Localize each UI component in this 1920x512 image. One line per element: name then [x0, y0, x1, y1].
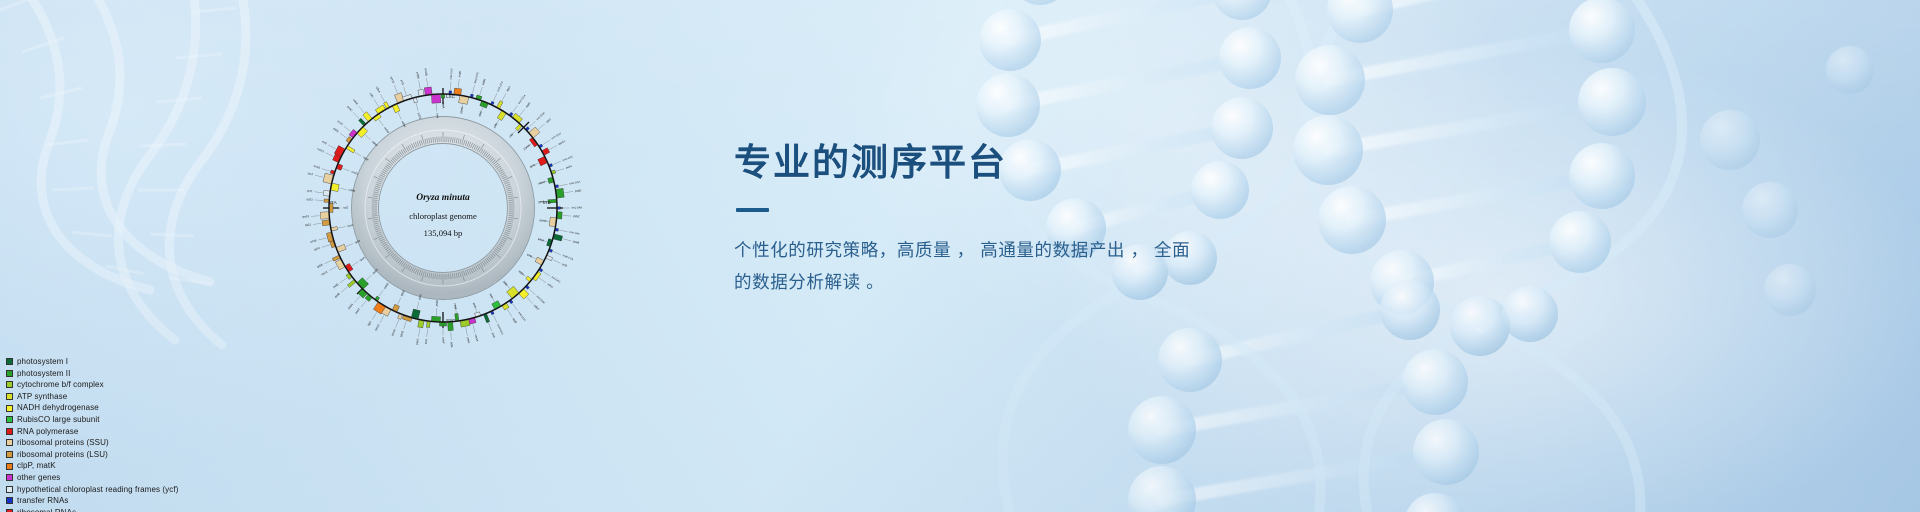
legend-item: photosystem II [6, 368, 178, 380]
svg-text:ycf3: ycf3 [562, 262, 569, 268]
svg-text:ndhC: ndhC [533, 303, 540, 311]
legend-item: ATP synthase [6, 391, 178, 403]
legend-item: transfer RNAs [6, 495, 178, 507]
banner-subcopy: 个性化的研究策略，高质量 ， 高通量的数据产出 ， 全面 的数据分析解读 。 [734, 234, 1269, 298]
svg-text:rpl36: rpl36 [316, 262, 324, 268]
svg-text:rps15: rps15 [389, 76, 395, 84]
svg-text:trnH-GUG: trnH-GUG [450, 68, 454, 79]
legend-swatch [6, 497, 13, 504]
svg-text:rps19: rps19 [302, 214, 310, 218]
genome-gene-labels: psbAtrnH-GUGmatKrps16trnQ-UUGpsbKpsbItrn… [302, 68, 582, 349]
legend-item-label: transfer RNAs [17, 495, 69, 507]
svg-text:ndhJ: ndhJ [547, 282, 555, 289]
legend-item-label: ribosomal proteins (SSU) [17, 437, 109, 449]
svg-text:rpl16: rpl16 [310, 238, 317, 244]
svg-text:psbM: psbM [537, 180, 545, 186]
svg-text:psbF: psbF [441, 337, 445, 344]
svg-text:cemA: cemA [474, 334, 480, 342]
legend-item-label: RubisCO large subunit [17, 414, 100, 426]
svg-text:ccsA: ccsA [337, 119, 344, 126]
svg-text:atpE: atpE [502, 280, 509, 287]
banner-copy-block: 专业的测序平台 个性化的研究策略，高质量 ， 高通量的数据产出 ， 全面 的数据… [734, 140, 1354, 298]
legend-item-label: ATP synthase [17, 391, 67, 403]
legend-swatch [6, 451, 13, 458]
svg-text:rpoB: rpoB [529, 163, 536, 169]
svg-text:IRB: IRB [543, 200, 551, 205]
svg-text:trnY-GUA: trnY-GUA [536, 111, 546, 121]
svg-text:petA: petA [466, 337, 471, 344]
legend-swatch [6, 416, 13, 423]
svg-text:IRA: IRA [329, 200, 338, 205]
svg-text:ndhE: ndhE [352, 98, 359, 106]
chloroplast-genome-map: psbAtrnH-GUGmatKrps16trnQ-UUGpsbKpsbItrn… [243, 8, 643, 408]
svg-text:SSC: SSC [446, 318, 456, 323]
svg-text:rpl23: rpl23 [306, 197, 313, 201]
legend-item-label: cytochrome b/f complex [17, 379, 104, 391]
legend-item-label: clpP, matK [17, 460, 56, 472]
svg-text:trnC-GCA: trnC-GCA [518, 94, 527, 105]
svg-text:ycf68: ycf68 [415, 72, 420, 80]
svg-text:ndhB: ndhB [348, 188, 355, 193]
svg-text:petG: petG [415, 338, 420, 345]
svg-text:psbE: psbE [435, 300, 439, 307]
legend-swatch [6, 474, 13, 481]
svg-text:ycf4: ycf4 [471, 302, 477, 309]
svg-text:ycf2: ycf2 [307, 189, 313, 194]
genome-species-name: Oryza minuta [416, 193, 470, 203]
svg-text:psbD: psbD [575, 188, 582, 193]
svg-text:psbL: psbL [450, 342, 454, 349]
svg-text:psaC: psaC [346, 105, 353, 112]
svg-text:rps14: rps14 [539, 218, 547, 223]
legend-swatch [6, 486, 13, 493]
svg-text:psaA: psaA [537, 237, 544, 243]
legend-item-label: hypothetical chloroplast reading frames … [17, 484, 178, 496]
svg-text:ndhG: ndhG [383, 126, 390, 134]
svg-text:trnQ-UUG: trnQ-UUG [474, 72, 480, 84]
legend-item: RNA polymerase [6, 426, 178, 438]
svg-text:orf100: orf100 [424, 68, 429, 77]
legend-item-label: ribosomal proteins (LSU) [17, 449, 108, 461]
legend-item-label: NADH dehydrogenase [17, 402, 99, 414]
legend-swatch [6, 463, 13, 470]
svg-text:psbT: psbT [354, 307, 361, 315]
svg-text:rps4: rps4 [526, 253, 533, 259]
genome-center-caption: Oryza minuta chloroplast genome 135,094 … [409, 193, 477, 238]
svg-text:petL: petL [424, 338, 429, 344]
svg-text:petD: petD [332, 282, 339, 289]
svg-text:trnT-GGU: trnT-GGU [551, 132, 562, 140]
svg-text:rrn5: rrn5 [321, 140, 328, 146]
svg-text:rrn16: rrn16 [313, 164, 321, 170]
svg-text:psbB: psbB [383, 282, 390, 290]
legend-item-label: other genes [17, 472, 60, 484]
svg-text:trnA-UGC: trnA-UGC [517, 311, 526, 322]
genome-center-line2: chloroplast genome [409, 211, 477, 221]
svg-text:rps18: rps18 [390, 328, 396, 336]
svg-text:rpoC1: rpoC1 [557, 139, 566, 146]
svg-text:psbJ: psbJ [453, 302, 458, 309]
svg-text:psbA: psbA [441, 102, 445, 109]
svg-text:rpl14: rpl14 [313, 246, 321, 252]
svg-text:atpB: atpB [512, 317, 519, 324]
legend-swatch [6, 405, 13, 412]
legend-item-label: ribosomal RNAs [17, 507, 76, 512]
svg-text:trnG-UCC: trnG-UCC [497, 81, 505, 93]
svg-text:rbcL: rbcL [488, 292, 494, 299]
svg-text:atpI: atpI [508, 133, 514, 139]
svg-text:rps11: rps11 [320, 269, 328, 276]
svg-text:ycf1: ycf1 [400, 79, 406, 86]
banner-subcopy-line-2: 的数据分析解读 。 [734, 272, 884, 292]
hero-banner: psbAtrnH-GUGmatKrps16trnQ-UUGpsbKpsbItrn… [0, 0, 1920, 512]
legend-item-label: photosystem II [17, 368, 70, 380]
svg-text:atpF: atpF [492, 122, 499, 129]
svg-text:psaI: psaI [491, 332, 497, 339]
svg-text:rpl22: rpl22 [305, 222, 312, 227]
svg-text:matK: matK [457, 70, 462, 77]
legend-swatch [6, 428, 13, 435]
gene-category-legend: photosystem I photosystem II cytochrome … [6, 356, 178, 512]
legend-item: RubisCO large subunit [6, 414, 178, 426]
genome-genome-size: 135,094 bp [424, 228, 463, 238]
svg-text:ndhI: ndhI [369, 92, 375, 99]
legend-item: other genes [6, 472, 178, 484]
banner-headline: 专业的测序平台 [734, 140, 1354, 186]
legend-item: NADH dehydrogenase [6, 402, 178, 414]
svg-text:petN: petN [565, 164, 572, 170]
svg-text:trnN-GUU: trnN-GUU [496, 324, 504, 336]
legend-item: ribosomal RNAs [6, 507, 178, 512]
svg-text:rps2: rps2 [545, 117, 552, 124]
svg-text:rps12: rps12 [374, 323, 381, 331]
legend-swatch [6, 358, 13, 365]
svg-text:ndhK: ndhK [517, 269, 525, 276]
svg-text:rrn4.5: rrn4.5 [316, 147, 325, 154]
svg-text:psaB: psaB [573, 239, 580, 244]
legend-item: clpP, matK [6, 460, 178, 472]
svg-text:rpl32: rpl32 [332, 126, 340, 133]
svg-text:psbZ: psbZ [573, 214, 580, 218]
svg-text:trnW-CCA: trnW-CCA [562, 254, 574, 261]
svg-text:trnV-GAC: trnV-GAC [536, 295, 546, 305]
legend-item: photosystem I [6, 356, 178, 368]
legend-swatch [6, 381, 13, 388]
svg-text:trnI-CAU: trnI-CAU [551, 276, 561, 284]
svg-text:rps16: rps16 [459, 106, 464, 114]
legend-item: hypothetical chloroplast reading frames … [6, 484, 178, 496]
svg-text:psbI: psbI [478, 111, 484, 118]
svg-text:psbN: psbN [347, 303, 354, 310]
svg-text:rps7: rps7 [307, 171, 314, 176]
svg-text:clpP: clpP [366, 320, 372, 327]
svg-text:psbK: psbK [481, 78, 487, 85]
headline-underline-rule [736, 208, 769, 212]
banner-subcopy-line-1: 个性化的研究策略，高质量 ， 高通量的数据产出 ， 全面 [734, 240, 1190, 260]
svg-text:infA: infA [435, 113, 439, 118]
legend-item: ribosomal proteins (LSU) [6, 449, 178, 461]
svg-text:trnL-UAA: trnL-UAA [572, 207, 583, 210]
svg-text:petB: petB [334, 292, 341, 299]
legend-item: cytochrome b/f complex [6, 379, 178, 391]
svg-text:rpoC2: rpoC2 [522, 144, 531, 152]
svg-text:atpA: atpA [505, 85, 511, 92]
legend-swatch [6, 370, 13, 377]
svg-text:trnV-UAC: trnV-UAC [569, 231, 580, 236]
svg-text:LSC: LSC [446, 94, 456, 99]
legend-swatch [6, 439, 13, 446]
legend-item-label: RNA polymerase [17, 426, 78, 438]
legend-item: ribosomal proteins (SSU) [6, 437, 178, 449]
svg-text:rpoA: rpoA [359, 256, 366, 263]
legend-item-label: photosystem I [17, 356, 68, 368]
svg-text:rpl2: rpl2 [343, 206, 348, 210]
svg-text:ndhA: ndhA [375, 86, 382, 94]
legend-swatch [6, 393, 13, 400]
svg-text:trnG-GCC: trnG-GCC [562, 155, 574, 162]
svg-text:trnS-GGA: trnS-GGA [569, 180, 581, 185]
svg-text:rpl33: rpl33 [399, 330, 405, 338]
svg-text:atpH: atpH [525, 101, 532, 108]
